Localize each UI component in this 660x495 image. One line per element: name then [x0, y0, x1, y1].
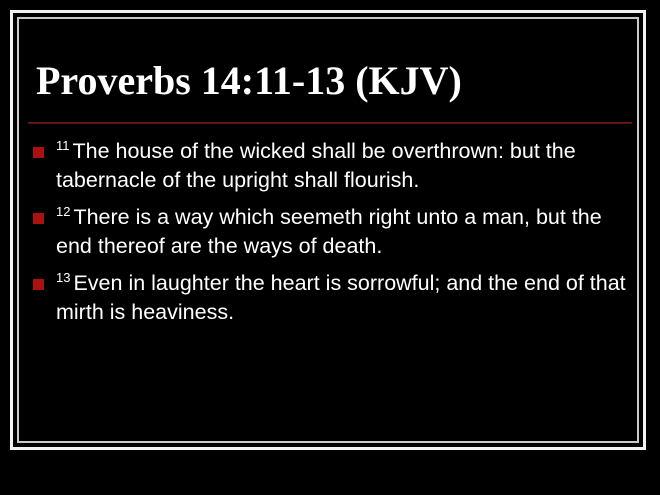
verse-list: 11The house of the wicked shall be overt… — [28, 137, 636, 327]
page-title: Proverbs 14:11-13 (KJV) — [36, 58, 624, 104]
square-bullet-icon — [33, 147, 44, 158]
presentation-slide: Proverbs 14:11-13 (KJV) 11The house of t… — [0, 0, 660, 495]
verse-number: 12 — [56, 204, 70, 219]
verse-text: The house of the wicked shall be overthr… — [56, 139, 576, 192]
square-bullet-icon — [33, 213, 44, 224]
list-item: 11The house of the wicked shall be overt… — [28, 137, 636, 195]
verse-number: 13 — [56, 270, 70, 285]
title-block: Proverbs 14:11-13 (KJV) — [36, 58, 624, 104]
verse-number: 11 — [56, 138, 70, 153]
square-bullet-icon — [33, 279, 44, 290]
verse-text: There is a way which seemeth right unto … — [56, 205, 602, 258]
list-item: 12There is a way which seemeth right unt… — [28, 203, 636, 261]
title-divider — [28, 122, 632, 124]
verse-text: Even in laughter the heart is sorrowful;… — [56, 271, 626, 324]
list-item: 13Even in laughter the heart is sorrowfu… — [28, 269, 636, 327]
